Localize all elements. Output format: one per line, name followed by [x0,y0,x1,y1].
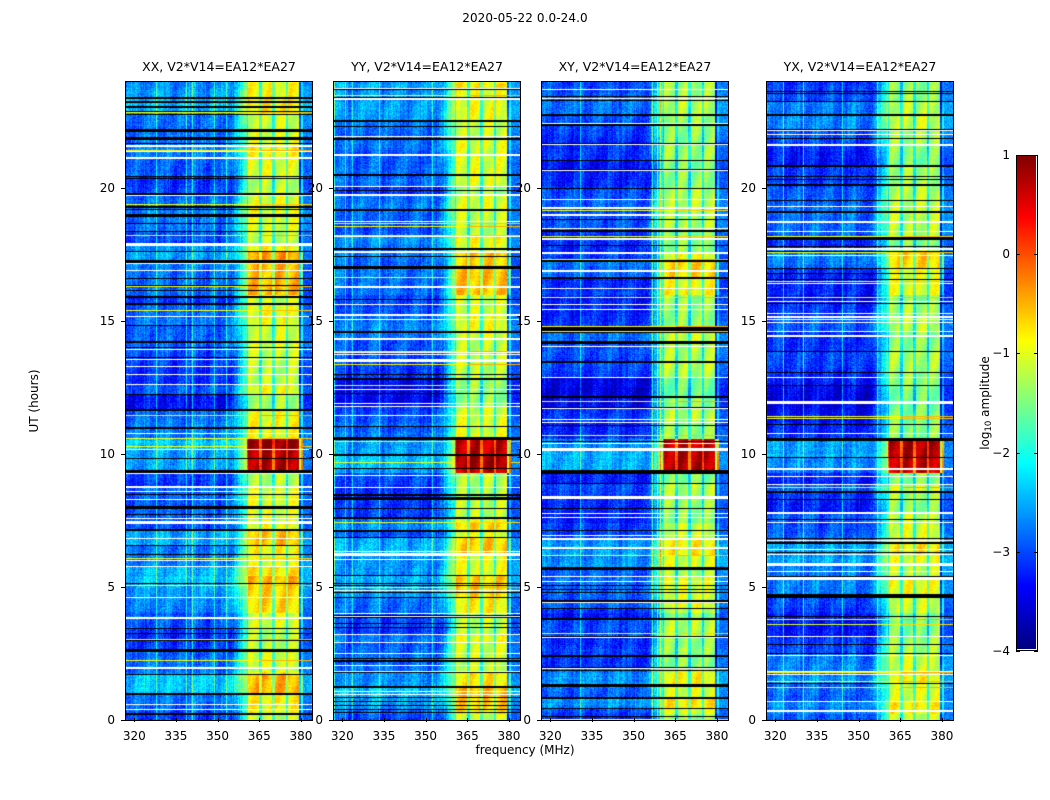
colorbar-tick [1016,254,1020,255]
colorbar-tick [1034,254,1038,255]
panel-xx-heatmap [126,82,312,720]
x-tick-label: 350 [414,729,437,743]
y-tick-label: 15 [308,314,323,328]
x-tick [775,718,776,722]
x-tick [859,718,860,722]
x-tick [900,718,901,722]
colorbar-tick [1034,155,1038,156]
y-tick-label: 5 [748,580,756,594]
y-tick-label: 0 [523,713,531,727]
y-tick [537,188,541,189]
colorbar-gradient [1016,155,1036,649]
y-tick-label: 5 [315,580,323,594]
y-tick [762,587,766,588]
y-tick-label: 20 [741,181,756,195]
y-tick-label: 5 [107,580,115,594]
y-tick [121,454,125,455]
x-tick-label: 350 [847,729,870,743]
figure-suptitle: 2020-05-22 0.0-24.0 [0,11,1050,25]
y-tick-label: 10 [516,447,531,461]
y-tick [537,454,541,455]
x-tick-label: 320 [539,729,562,743]
y-tick-label: 15 [741,314,756,328]
x-tick-label: 335 [806,729,829,743]
y-tick-label: 20 [516,181,531,195]
x-tick [592,718,593,722]
y-tick [762,720,766,721]
x-tick-label: 365 [664,729,687,743]
x-tick-label: 335 [165,729,188,743]
colorbar-tick [1016,453,1020,454]
figure-canvas: 2020-05-22 0.0-24.0 UT (hours) frequency… [0,0,1050,800]
y-tick [329,587,333,588]
panel-yy-title: YY, V2*V14=EA12*EA27 [313,59,541,74]
x-tick [259,718,260,722]
panel-xy-title: XY, V2*V14=EA12*EA27 [521,59,749,74]
colorbar-tick [1016,552,1020,553]
colorbar-tick-label: −4 [992,644,1010,658]
y-tick-label: 15 [516,314,531,328]
colorbar-tick [1034,552,1038,553]
x-tick-label: 335 [581,729,604,743]
y-tick [329,454,333,455]
y-tick [762,188,766,189]
x-tick [717,718,718,722]
panel-xy-heatmap [542,82,728,720]
x-tick [942,718,943,722]
x-tick [675,718,676,722]
panel-yx-title: YX, V2*V14=EA12*EA27 [746,59,974,74]
panel-yy[interactable]: YY, V2*V14=EA12*EA27 3203353503653800510… [333,81,521,721]
y-tick-label: 15 [100,314,115,328]
y-tick [537,321,541,322]
x-tick-label: 350 [622,729,645,743]
colorbar-tick-label: −2 [992,446,1010,460]
y-tick-label: 5 [523,580,531,594]
x-tick [384,718,385,722]
colorbar-tick [1034,651,1038,652]
x-tick-label: 320 [123,729,146,743]
y-tick [329,321,333,322]
x-tick-label: 365 [456,729,479,743]
y-tick-label: 10 [100,447,115,461]
x-tick [134,718,135,722]
x-tick-label: 380 [930,729,953,743]
x-tick [301,718,302,722]
panel-yx-heatmap [767,82,953,720]
x-tick-label: 335 [373,729,396,743]
panel-xx-axes[interactable] [125,81,313,721]
x-tick-label: 320 [331,729,354,743]
x-tick [550,718,551,722]
colorbar-tick [1034,353,1038,354]
y-tick-label: 10 [741,447,756,461]
y-tick [537,720,541,721]
x-tick [218,718,219,722]
y-tick-label: 10 [308,447,323,461]
y-tick-label: 0 [748,713,756,727]
x-tick-label: 365 [248,729,271,743]
x-tick [342,718,343,722]
y-tick [762,454,766,455]
y-tick [329,188,333,189]
x-axis-label: frequency (MHz) [0,743,1050,757]
colorbar-tick-label: 0 [1002,247,1010,261]
y-tick [329,720,333,721]
x-tick [467,718,468,722]
panel-xx[interactable]: XX, V2*V14=EA12*EA27 3203353503653800510… [125,81,313,721]
y-tick [121,587,125,588]
x-tick [817,718,818,722]
x-tick [176,718,177,722]
x-tick-label: 380 [289,729,312,743]
x-tick-label: 380 [705,729,728,743]
x-tick-label: 365 [889,729,912,743]
colorbar[interactable] [1016,155,1038,651]
colorbar-tick [1034,453,1038,454]
y-tick-label: 0 [107,713,115,727]
y-axis-label: UT (hours) [27,369,41,432]
y-tick [762,321,766,322]
x-tick [634,718,635,722]
panel-yx[interactable]: YX, V2*V14=EA12*EA27 3203353503653800510… [766,81,954,721]
y-tick-label: 20 [308,181,323,195]
y-tick [121,321,125,322]
colorbar-tick [1016,155,1020,156]
x-tick [509,718,510,722]
panel-xx-title: XX, V2*V14=EA12*EA27 [105,59,333,74]
x-tick-label: 320 [764,729,787,743]
y-tick [121,188,125,189]
y-tick-label: 20 [100,181,115,195]
colorbar-tick [1016,353,1020,354]
x-tick-label: 380 [497,729,520,743]
y-tick-label: 0 [315,713,323,727]
y-tick [537,587,541,588]
colorbar-tick [1016,651,1020,652]
colorbar-label: log10 amplitude [978,356,992,450]
x-tick-label: 350 [206,729,229,743]
panel-yy-heatmap [334,82,520,720]
colorbar-tick-label: −1 [992,346,1010,360]
panel-xy-axes[interactable] [541,81,729,721]
colorbar-tick-label: 1 [1002,148,1010,162]
colorbar-tick-label: −3 [992,545,1010,559]
panel-yx-axes[interactable] [766,81,954,721]
panel-xy[interactable]: XY, V2*V14=EA12*EA27 3203353503653800510… [541,81,729,721]
y-tick [121,720,125,721]
panel-yy-axes[interactable] [333,81,521,721]
x-tick [426,718,427,722]
